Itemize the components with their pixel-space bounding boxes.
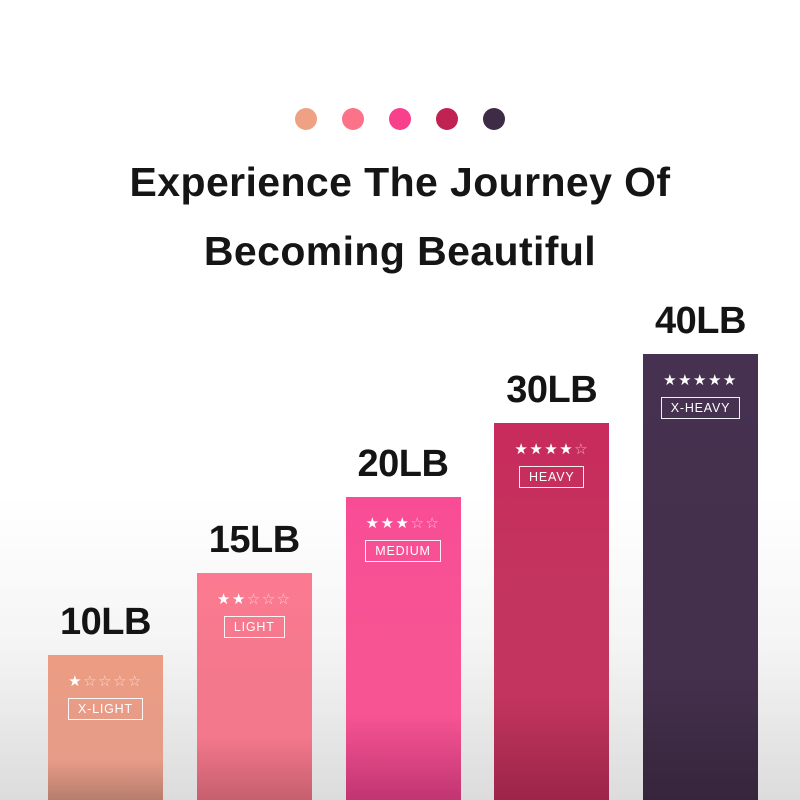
color-swatch-row — [0, 108, 800, 130]
star-rating-10lb: ★☆☆☆☆ — [48, 673, 163, 689]
bar-column-40lb: 40LB ★★★★★ X-HEAVY — [643, 290, 758, 800]
stars-empty-icon: ☆☆☆ — [247, 590, 292, 608]
bar-10lb: ★☆☆☆☆ X-LIGHT — [48, 655, 163, 800]
tier-badge-wrap-30lb: HEAVY — [494, 466, 609, 488]
page-title: Experience The Journey Of Becoming Beaut… — [0, 148, 800, 286]
bar-column-30lb: 30LB ★★★★☆ HEAVY — [494, 290, 609, 800]
tier-badge-medium: MEDIUM — [365, 540, 441, 562]
tier-badge-wrap-40lb: X-HEAVY — [643, 397, 758, 419]
stars-filled-icon: ★★★★ — [514, 440, 574, 458]
stars-empty-icon: ☆☆☆☆ — [83, 672, 143, 690]
tier-badge-wrap-20lb: MEDIUM — [346, 540, 461, 562]
bar-column-10lb: 10LB ★☆☆☆☆ X-LIGHT — [48, 290, 163, 800]
dot-medium-swatch — [389, 108, 411, 130]
tier-badge-light: LIGHT — [224, 616, 285, 638]
bar-20lb: ★★★☆☆ MEDIUM — [346, 497, 461, 800]
star-rating-15lb: ★★☆☆☆ — [197, 591, 312, 607]
title-line-2: Becoming Beautiful — [0, 217, 800, 286]
star-rating-40lb: ★★★★★ — [643, 372, 758, 388]
title-line-1: Experience The Journey Of — [0, 148, 800, 217]
resistance-band-infographic: Experience The Journey Of Becoming Beaut… — [0, 0, 800, 800]
tier-badge-wrap-10lb: X-LIGHT — [48, 698, 163, 720]
weight-label-10lb: 10LB — [60, 603, 151, 641]
tier-badge-wrap-15lb: LIGHT — [197, 616, 312, 638]
bar-column-20lb: 20LB ★★★☆☆ MEDIUM — [346, 290, 461, 800]
dot-x-light-swatch — [295, 108, 317, 130]
tier-badge-heavy: HEAVY — [519, 466, 584, 488]
weight-label-40lb: 40LB — [655, 302, 746, 340]
weight-label-15lb: 15LB — [209, 521, 300, 559]
dot-x-heavy-swatch — [483, 108, 505, 130]
stars-filled-icon: ★ — [68, 672, 83, 690]
weight-label-20lb: 20LB — [358, 445, 449, 483]
bar-30lb: ★★★★☆ HEAVY — [494, 423, 609, 800]
weight-label-30lb: 30LB — [506, 371, 597, 409]
dot-heavy-swatch — [436, 108, 458, 130]
stars-filled-icon: ★★★★★ — [663, 371, 738, 389]
tier-badge-x-heavy: X-HEAVY — [661, 397, 741, 419]
tier-badge-x-light: X-LIGHT — [68, 698, 143, 720]
resistance-bar-chart: 10LB ★☆☆☆☆ X-LIGHT 15LB ★★☆☆☆ LIGHT 20LB… — [48, 290, 758, 800]
star-rating-20lb: ★★★☆☆ — [346, 515, 461, 531]
star-rating-30lb: ★★★★☆ — [494, 441, 609, 457]
dot-light-swatch — [342, 108, 364, 130]
stars-empty-icon: ☆☆ — [410, 514, 440, 532]
bar-40lb: ★★★★★ X-HEAVY — [643, 354, 758, 800]
bar-15lb: ★★☆☆☆ LIGHT — [197, 573, 312, 800]
stars-empty-icon: ☆ — [574, 440, 589, 458]
stars-filled-icon: ★★ — [217, 590, 247, 608]
stars-filled-icon: ★★★ — [366, 514, 411, 532]
bar-column-15lb: 15LB ★★☆☆☆ LIGHT — [197, 290, 312, 800]
